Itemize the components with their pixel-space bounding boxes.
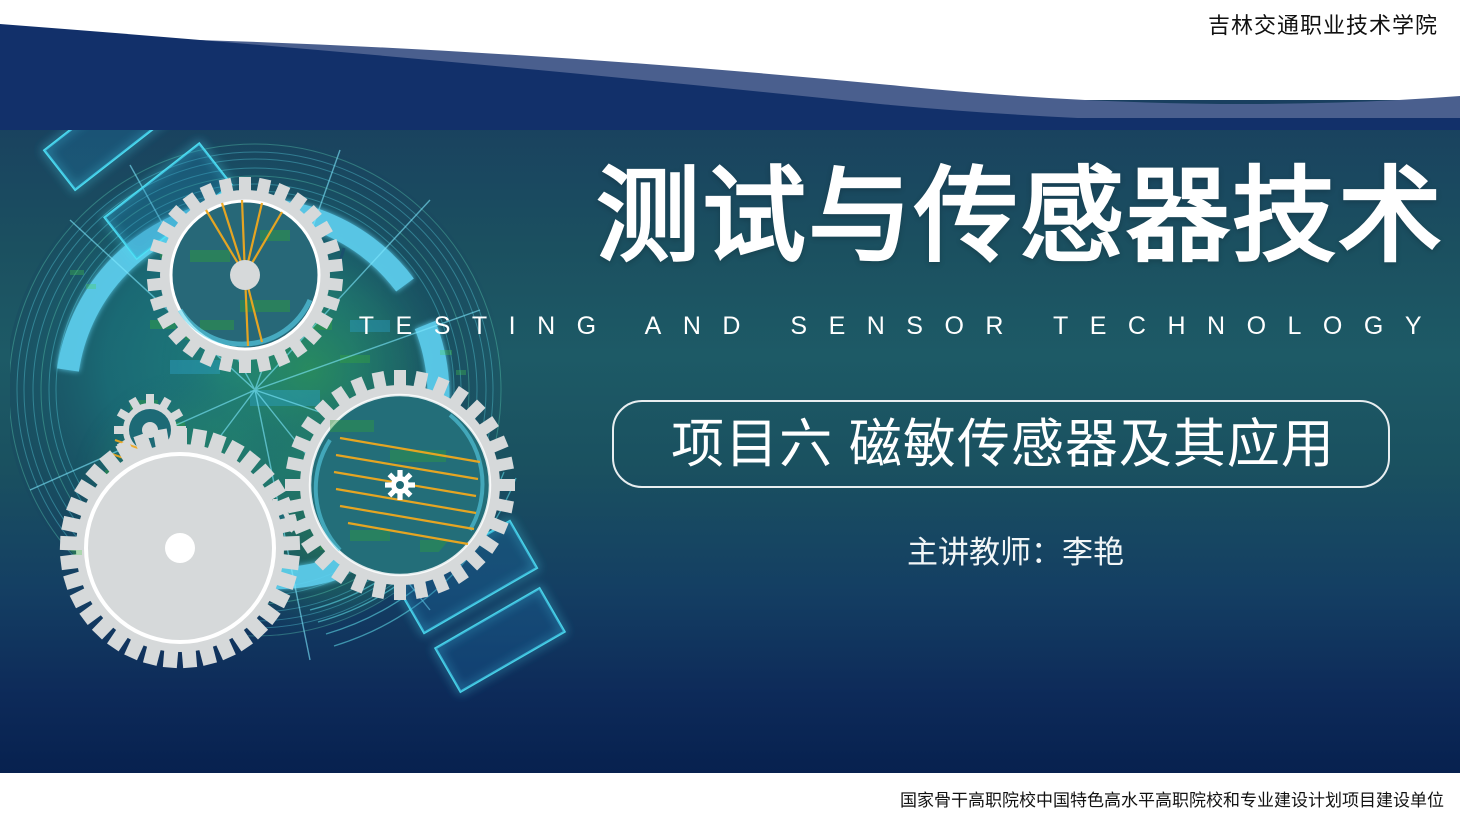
institution-name: 吉林交通职业技术学院	[1208, 8, 1438, 40]
topic-box: 项目六 磁敏传感器及其应用	[612, 400, 1390, 488]
topic-label: 项目六 磁敏传感器及其应用	[614, 402, 1392, 490]
presentation-slide: 测试与传感器技术 TESTING AND SENSOR TECHNOLOGY 项…	[0, 0, 1460, 821]
lecturer-label: 主讲教师：李艳	[0, 527, 1124, 572]
accreditation-note: 国家骨干高职院校中国特色高水平高职院校和专业建设计划项目建设单位	[900, 786, 1444, 811]
course-title-english: TESTING AND SENSOR TECHNOLOGY	[0, 312, 1443, 341]
course-title: 测试与传感器技术	[0, 163, 1444, 272]
